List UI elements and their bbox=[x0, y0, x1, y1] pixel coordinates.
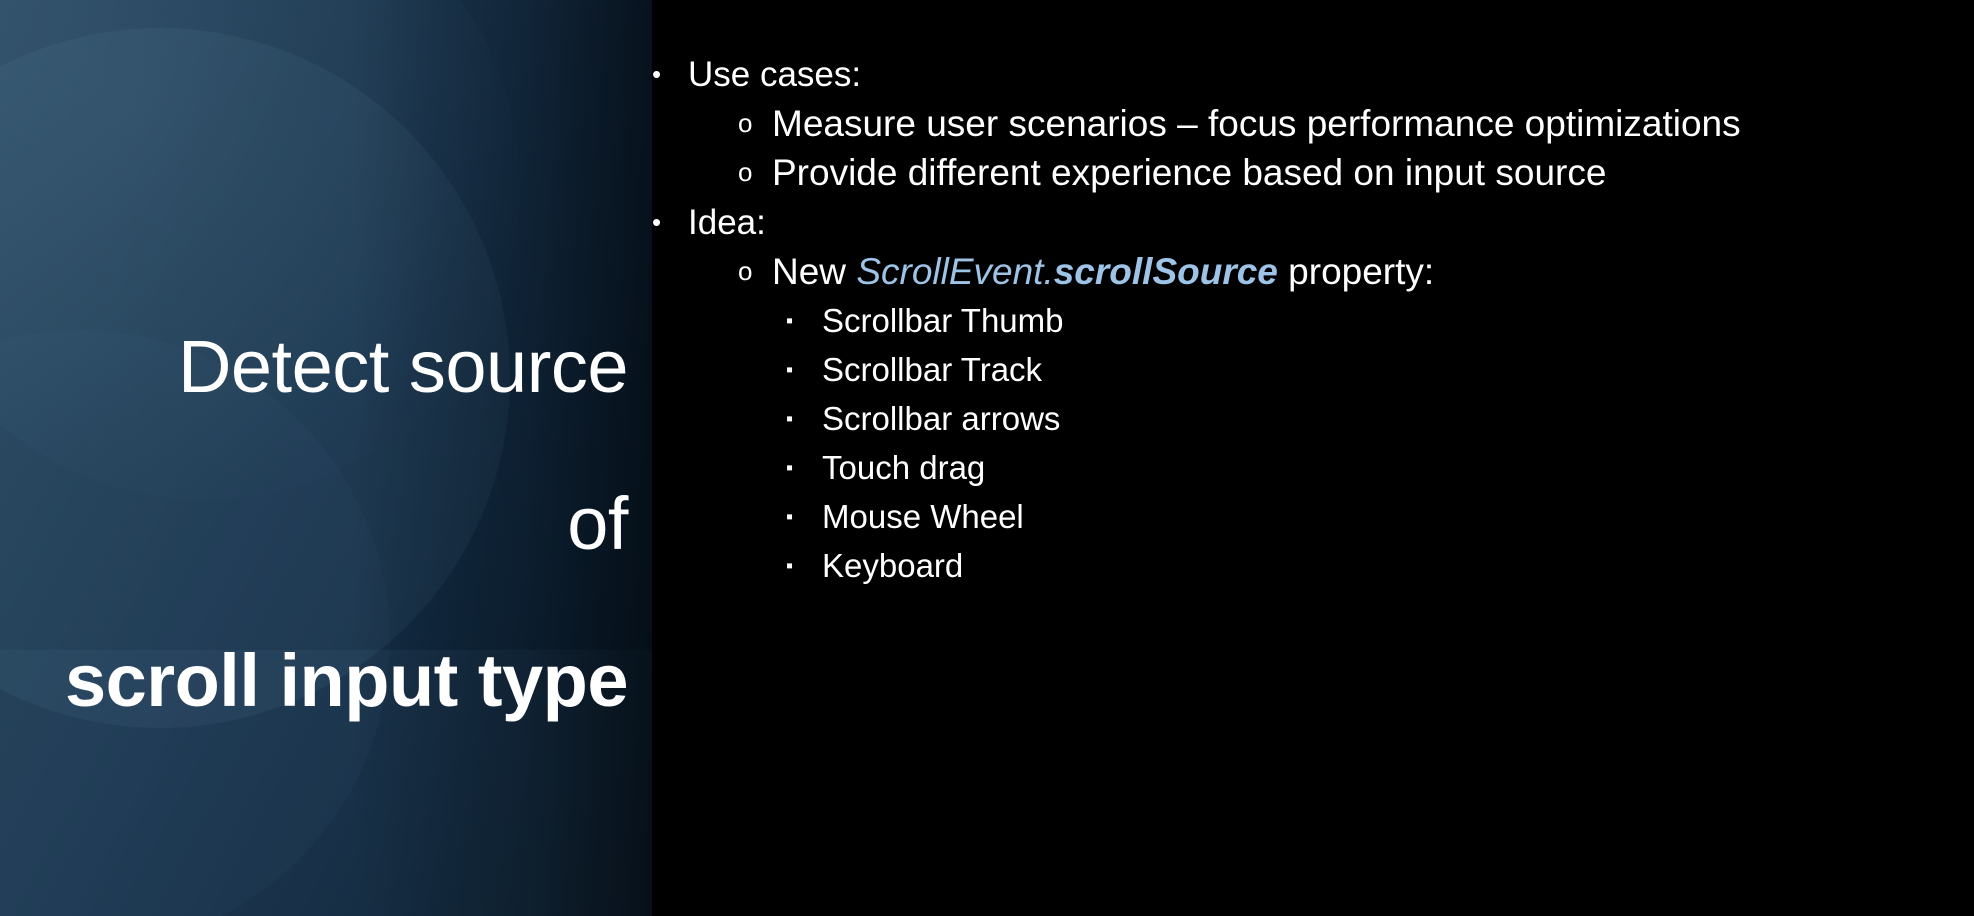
bullet-level1-label: Idea: bbox=[688, 200, 1974, 246]
property-class-name: ScrollEvent bbox=[856, 251, 1043, 292]
bullet-level3-scrollbar-track: ▪ Scrollbar Track bbox=[786, 346, 1974, 395]
bullet-group-idea: • Idea: o New ScrollEvent.scrollSource p… bbox=[652, 200, 1974, 591]
property-member-name: scrollSource bbox=[1054, 251, 1278, 292]
title-line-1: Detect source bbox=[178, 325, 628, 408]
title-line-3: scroll input type bbox=[65, 639, 628, 722]
property-suffix-text: property: bbox=[1278, 251, 1434, 292]
bullet-level3-scrollbar-arrows: ▪ Scrollbar arrows bbox=[786, 395, 1974, 444]
bullet-level2-label: Measure user scenarios – focus performan… bbox=[772, 100, 1974, 147]
title-line-2: of bbox=[567, 482, 628, 565]
bullet-square-icon: ▪ bbox=[786, 297, 822, 346]
property-dot-separator: . bbox=[1043, 251, 1053, 292]
bullet-level3-scrollbar-thumb: ▪ Scrollbar Thumb bbox=[786, 297, 1974, 346]
bullet-list-root: • Use cases: o Measure user scenarios – … bbox=[652, 52, 1974, 591]
presentation-slide: Detect source of scroll input type • Use… bbox=[0, 0, 1974, 916]
bullet-dot-icon: • bbox=[652, 200, 688, 245]
bullet-level3-label: Scrollbar arrows bbox=[822, 395, 1974, 444]
bullet-circle-icon: o bbox=[738, 248, 772, 295]
bullet-level1-idea: • Idea: bbox=[652, 200, 1974, 246]
bullet-level3-label: Scrollbar Track bbox=[822, 346, 1974, 395]
bullet-level3-touch-drag: ▪ Touch drag bbox=[786, 444, 1974, 493]
bullet-circle-icon: o bbox=[738, 100, 772, 147]
bullet-level3-label: Scrollbar Thumb bbox=[822, 297, 1974, 346]
bullet-square-icon: ▪ bbox=[786, 395, 822, 444]
bullet-level2-measure: o Measure user scenarios – focus perform… bbox=[738, 100, 1974, 147]
title-panel: Detect source of scroll input type bbox=[0, 0, 652, 916]
property-prefix-text: New bbox=[772, 251, 856, 292]
bullet-square-icon: ▪ bbox=[786, 346, 822, 395]
bullet-square-icon: ▪ bbox=[786, 542, 822, 591]
bullet-level3-label: Mouse Wheel bbox=[822, 493, 1974, 542]
bullet-level3-mouse-wheel: ▪ Mouse Wheel bbox=[786, 493, 1974, 542]
content-panel: • Use cases: o Measure user scenarios – … bbox=[652, 0, 1974, 916]
bullet-level3-keyboard: ▪ Keyboard bbox=[786, 542, 1974, 591]
bullet-level2-provide: o Provide different experience based on … bbox=[738, 149, 1974, 196]
bullet-group-use-cases: • Use cases: o Measure user scenarios – … bbox=[652, 52, 1974, 196]
bullet-dot-icon: • bbox=[652, 52, 688, 97]
bullet-level1-use-cases: • Use cases: bbox=[652, 52, 1974, 98]
bullet-square-icon: ▪ bbox=[786, 493, 822, 542]
bullet-square-icon: ▪ bbox=[786, 444, 822, 493]
bullet-circle-icon: o bbox=[738, 149, 772, 196]
bullet-level2-new-property: o New ScrollEvent.scrollSource property: bbox=[738, 248, 1974, 295]
bullet-level1-label: Use cases: bbox=[688, 52, 1974, 98]
slide-title: Detect source of scroll input type bbox=[0, 250, 628, 799]
bullet-level2-label-rich: New ScrollEvent.scrollSource property: bbox=[772, 248, 1974, 295]
bullet-level2-label: Provide different experience based on in… bbox=[772, 149, 1974, 196]
bullet-level3-label: Touch drag bbox=[822, 444, 1974, 493]
bullet-level3-label: Keyboard bbox=[822, 542, 1974, 591]
